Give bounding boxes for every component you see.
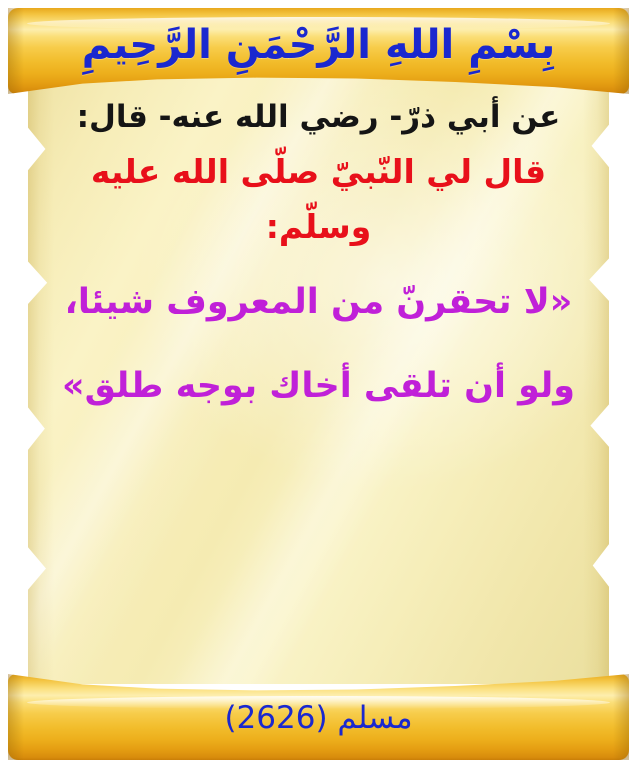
basmala-calligraphy: بِسْمِ اللهِ الرَّحْمَنِ الرَّحِيمِ [0, 14, 637, 76]
hadith-text-body: عن أبي ذرّ- رضي الله عنه- قال: قال لي ال… [44, 92, 593, 428]
hadith-quote-line: «لا تحقرنّ من المعروف شيئا، ولو أن تلقى … [44, 260, 593, 428]
source-reference: مسلم (2626) [0, 700, 637, 736]
hadith-scroll-card: بِسْمِ اللهِ الرَّحْمَنِ الرَّحِيمِ عن أ… [0, 0, 637, 768]
narrator-line: عن أبي ذرّ- رضي الله عنه- قال: [44, 92, 593, 142]
prophet-saying-line: قال لي النّبيّ صلّى الله عليه وسلّم: [44, 144, 593, 254]
